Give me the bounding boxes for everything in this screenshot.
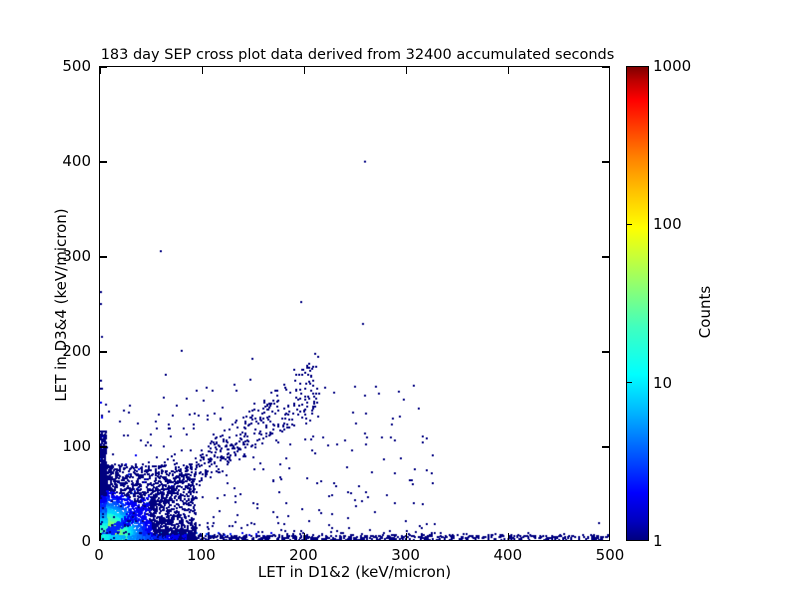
x-axis-tick <box>202 67 203 74</box>
colorbar-label: Counts <box>696 212 714 412</box>
x-axis-tick <box>202 533 203 540</box>
y-axis-tick <box>602 351 609 352</box>
colorbar-tick-label: 100 <box>653 215 682 233</box>
x-tick-label: 200 <box>289 546 318 564</box>
y-tick-label: 100 <box>27 437 91 455</box>
x-axis-tick <box>99 67 100 74</box>
y-axis-tick <box>100 161 107 162</box>
y-axis-label: LET in D3&4 (keV/micron) <box>52 145 70 465</box>
x-axis-tick <box>508 533 509 540</box>
plot-title-line-1: 183 day SEP cross plot data derived from… <box>0 46 715 65</box>
y-axis-tick <box>100 446 107 447</box>
colorbar-gradient[interactable] <box>626 66 649 541</box>
y-tick-label: 300 <box>27 247 91 265</box>
y-axis-tick <box>100 66 107 67</box>
x-axis-label: LET in D1&2 (keV/micron) <box>99 563 610 581</box>
x-axis-tick <box>304 533 305 540</box>
x-axis-tick <box>99 533 100 540</box>
data-points-layer <box>100 67 609 540</box>
y-tick-label: 0 <box>27 532 91 550</box>
y-axis-tick <box>602 161 609 162</box>
y-tick-label: 500 <box>27 57 91 75</box>
x-tick-label: 0 <box>94 546 104 564</box>
y-tick-label: 200 <box>27 342 91 360</box>
y-axis-tick <box>100 256 107 257</box>
x-tick-label: 100 <box>187 546 216 564</box>
colorbar-tick-label: 1 <box>653 532 663 550</box>
y-axis-tick <box>100 351 107 352</box>
figure-canvas: 183 day SEP cross plot data derived from… <box>0 0 800 600</box>
x-axis-tick <box>406 533 407 540</box>
y-axis-tick <box>602 66 609 67</box>
x-axis-tick <box>508 67 509 74</box>
y-axis-tick <box>602 446 609 447</box>
colorbar-tick <box>626 382 632 383</box>
colorbar-tick <box>626 224 632 225</box>
x-axis-tick <box>406 67 407 74</box>
x-tick-label: 300 <box>391 546 420 564</box>
colorbar-tick-label: 1000 <box>653 57 691 75</box>
colorbar-tick-label: 10 <box>653 374 672 392</box>
y-axis-tick <box>602 256 609 257</box>
y-tick-label: 400 <box>27 152 91 170</box>
x-tick-label: 400 <box>493 546 522 564</box>
x-axis-tick <box>304 67 305 74</box>
scatter-plot-axes[interactable] <box>99 66 610 541</box>
x-tick-label: 500 <box>596 546 625 564</box>
